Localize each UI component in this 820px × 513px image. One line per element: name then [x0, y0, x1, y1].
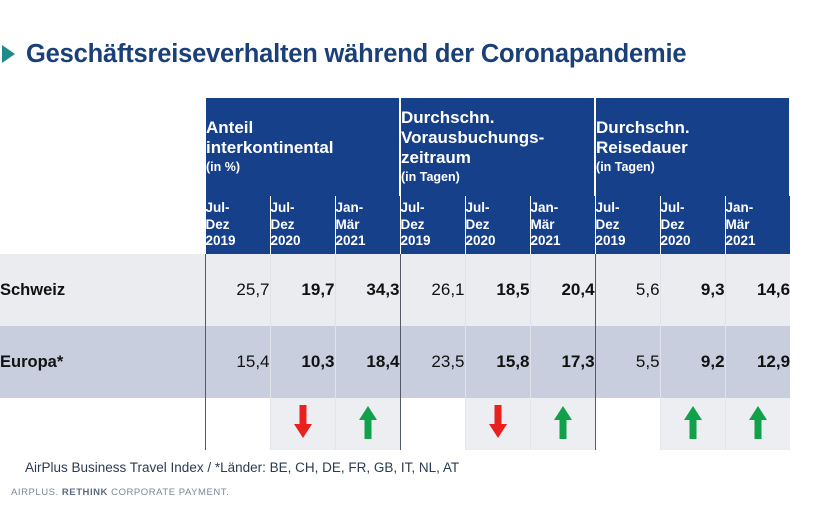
- table-row: Europa* 15,4 10,3 18,4 23,5 15,8 17,3 5,…: [0, 326, 790, 398]
- group-unit: (in Tagen): [401, 169, 594, 185]
- row-label-schweiz: Schweiz: [0, 254, 205, 326]
- period-line2: Dez: [466, 217, 530, 234]
- period-line2: Dez: [596, 217, 660, 234]
- period-line1: Jul-: [401, 200, 465, 217]
- cell-schweiz-7: 9,3: [660, 254, 725, 326]
- row-label-europa: Europa*: [0, 326, 205, 398]
- trend-cell-6: [595, 398, 660, 450]
- group-title-line1: Durchschn.: [401, 108, 594, 128]
- trend-cell-1: [270, 398, 335, 450]
- cell-europa-2: 18,4: [335, 326, 400, 398]
- trend-cell-2: [335, 398, 400, 450]
- group-title-line2: Reisedauer: [596, 138, 789, 158]
- page-header: Geschäftsreiseverhalten während der Coro…: [0, 34, 820, 74]
- period-header-0: Jul- Dez 2019: [205, 196, 270, 254]
- group-header-anteil-interkontinental: Anteil interkontinental (in %): [205, 98, 400, 196]
- period-header-6: Jul- Dez 2019: [595, 196, 660, 254]
- brand-prefix: AIRPLUS.: [11, 487, 62, 498]
- period-header-8: Jan- Mär 2021: [725, 196, 790, 254]
- period-line1: Jan-: [726, 200, 790, 217]
- cell-schweiz-4: 18,5: [465, 254, 530, 326]
- arrow-up-icon: [357, 404, 379, 440]
- period-header-7: Jul- Dez 2020: [660, 196, 725, 254]
- cell-europa-3: 23,5: [400, 326, 465, 398]
- brand-bold: RETHINK: [62, 487, 108, 498]
- period-line3: 2019: [596, 233, 660, 250]
- table-row: Schweiz 25,7 19,7 34,3 26,1 18,5 20,4 5,…: [0, 254, 790, 326]
- trend-cell-0: [205, 398, 270, 450]
- period-line1: Jul-: [206, 200, 270, 217]
- cell-europa-5: 17,3: [530, 326, 595, 398]
- period-header-4: Jul- Dez 2020: [465, 196, 530, 254]
- brand-suffix: CORPORATE PAYMENT.: [108, 487, 229, 498]
- brand-line: AIRPLUS. RETHINK CORPORATE PAYMENT.: [11, 487, 229, 498]
- arrow-up-icon: [682, 404, 704, 440]
- cell-schweiz-3: 26,1: [400, 254, 465, 326]
- trend-row-label-blank: [0, 398, 205, 450]
- period-header-5: Jan- Mär 2021: [530, 196, 595, 254]
- period-line2: Dez: [661, 217, 725, 234]
- group-title-line1: Anteil: [206, 118, 399, 138]
- period-line2: Dez: [206, 217, 270, 234]
- cell-schweiz-0: 25,7: [205, 254, 270, 326]
- period-header-2: Jan- Mär 2021: [335, 196, 400, 254]
- travel-metrics-table: Anteil interkontinental (in %) Durchschn…: [0, 98, 791, 450]
- page-title: Geschäftsreiseverhalten während der Coro…: [26, 40, 686, 69]
- period-header-3: Jul- Dez 2019: [400, 196, 465, 254]
- group-header-reisedauer: Durchschn. Reisedauer (in Tagen): [595, 98, 790, 196]
- cell-europa-6: 5,5: [595, 326, 660, 398]
- group-title-line3: zeitraum: [401, 148, 594, 168]
- cell-europa-4: 15,8: [465, 326, 530, 398]
- period-line3: 2021: [531, 233, 595, 250]
- cell-europa-0: 15,4: [205, 326, 270, 398]
- period-line3: 2019: [401, 233, 465, 250]
- period-line1: Jul-: [661, 200, 725, 217]
- triangle-right-icon: [2, 45, 15, 63]
- trend-cell-7: [660, 398, 725, 450]
- period-line1: Jan-: [336, 200, 400, 217]
- arrow-down-icon: [487, 404, 509, 440]
- period-line1: Jul-: [271, 200, 335, 217]
- arrow-up-icon: [747, 404, 769, 440]
- cell-europa-1: 10,3: [270, 326, 335, 398]
- group-title-line2: Vorausbuchungs-: [401, 128, 594, 148]
- arrow-up-icon: [552, 404, 574, 440]
- period-line3: 2020: [661, 233, 725, 250]
- cell-europa-8: 12,9: [725, 326, 790, 398]
- period-line3: 2020: [466, 233, 530, 250]
- table-group-header-row: Anteil interkontinental (in %) Durchschn…: [0, 98, 790, 196]
- group-header-vorausbuchungszeitraum: Durchschn. Vorausbuchungs- zeitraum (in …: [400, 98, 595, 196]
- group-title-line2: interkontinental: [206, 138, 399, 158]
- group-title-line1: Durchschn.: [596, 118, 789, 138]
- period-line3: 2021: [726, 233, 790, 250]
- period-line2: Mär: [336, 217, 400, 234]
- trend-cell-4: [465, 398, 530, 450]
- period-header-1: Jul- Dez 2020: [270, 196, 335, 254]
- cell-schweiz-8: 14,6: [725, 254, 790, 326]
- cell-schweiz-6: 5,6: [595, 254, 660, 326]
- period-line1: Jan-: [531, 200, 595, 217]
- period-line1: Jul-: [466, 200, 530, 217]
- group-unit: (in Tagen): [596, 159, 789, 175]
- header-blank-corner-2: [0, 196, 205, 254]
- group-unit: (in %): [206, 159, 399, 175]
- period-line3: 2021: [336, 233, 400, 250]
- trend-cell-3: [400, 398, 465, 450]
- cell-schweiz-5: 20,4: [530, 254, 595, 326]
- cell-schweiz-2: 34,3: [335, 254, 400, 326]
- trend-cell-5: [530, 398, 595, 450]
- table-trend-row: [0, 398, 790, 450]
- cell-europa-7: 9,2: [660, 326, 725, 398]
- period-line2: Mär: [726, 217, 790, 234]
- source-note: AirPlus Business Travel Index / *Länder:…: [25, 460, 459, 475]
- period-line3: 2020: [271, 233, 335, 250]
- period-line2: Dez: [401, 217, 465, 234]
- period-line3: 2019: [206, 233, 270, 250]
- period-line2: Mär: [531, 217, 595, 234]
- cell-schweiz-1: 19,7: [270, 254, 335, 326]
- table-period-header-row: Jul- Dez 2019 Jul- Dez 2020 Jan- Mär 202…: [0, 196, 790, 254]
- header-blank-corner: [0, 98, 205, 196]
- trend-cell-8: [725, 398, 790, 450]
- period-line1: Jul-: [596, 200, 660, 217]
- period-line2: Dez: [271, 217, 335, 234]
- arrow-down-icon: [292, 404, 314, 440]
